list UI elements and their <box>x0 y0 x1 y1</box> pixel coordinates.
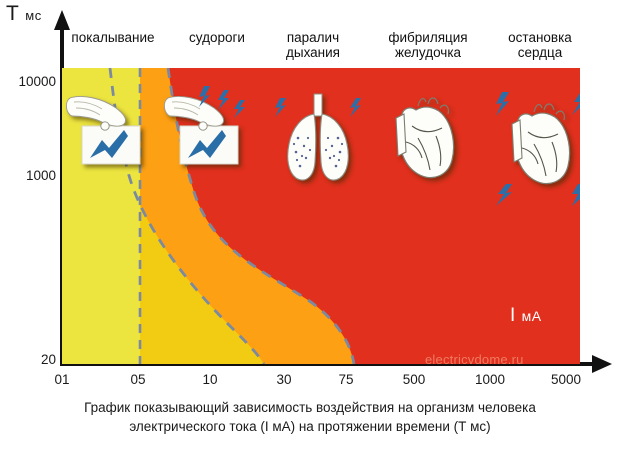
current-axis-symbol: I <box>510 305 516 326</box>
x-tick-05: 05 <box>108 372 168 387</box>
column-label-cramps: судороги <box>162 30 272 45</box>
zone-bands <box>62 68 580 364</box>
chart-figure: T мс 10000 1000 20 <box>0 0 620 450</box>
x-tick-75: 75 <box>316 372 376 387</box>
column-label-fibrillation: фибриляция желудочка <box>368 30 488 60</box>
column-label-cardiac-arrest: остановка сердца <box>482 30 598 60</box>
y-axis-title-unit: мс <box>25 8 41 23</box>
x-tick-01: 01 <box>32 372 92 387</box>
column-label-tingling: покалывание <box>58 30 168 45</box>
caption-line-2: электрического тока (I мА) на протяжении… <box>0 417 620 436</box>
x-tick-1000: 1000 <box>460 372 520 387</box>
current-axis-label: I мА <box>510 305 542 327</box>
current-axis-unit: мА <box>522 308 542 324</box>
y-tick-1000: 1000 <box>0 168 56 183</box>
y-tick-10000: 10000 <box>0 74 56 89</box>
watermark: electricvdome.ru <box>425 352 524 367</box>
x-tick-5000: 5000 <box>536 372 596 387</box>
column-label-resp-paralysis: паралич дыхания <box>258 30 368 60</box>
plot-area <box>62 68 580 364</box>
figure-caption: График показывающий зависимость воздейст… <box>0 398 620 436</box>
x-tick-10: 10 <box>180 372 240 387</box>
y-axis-title: T мс <box>6 2 42 26</box>
caption-line-1: График показывающий зависимость воздейст… <box>0 398 620 417</box>
y-tick-20: 20 <box>0 352 56 367</box>
x-tick-500: 500 <box>384 372 444 387</box>
x-tick-30: 30 <box>254 372 314 387</box>
y-axis-title-symbol: T <box>6 2 19 25</box>
